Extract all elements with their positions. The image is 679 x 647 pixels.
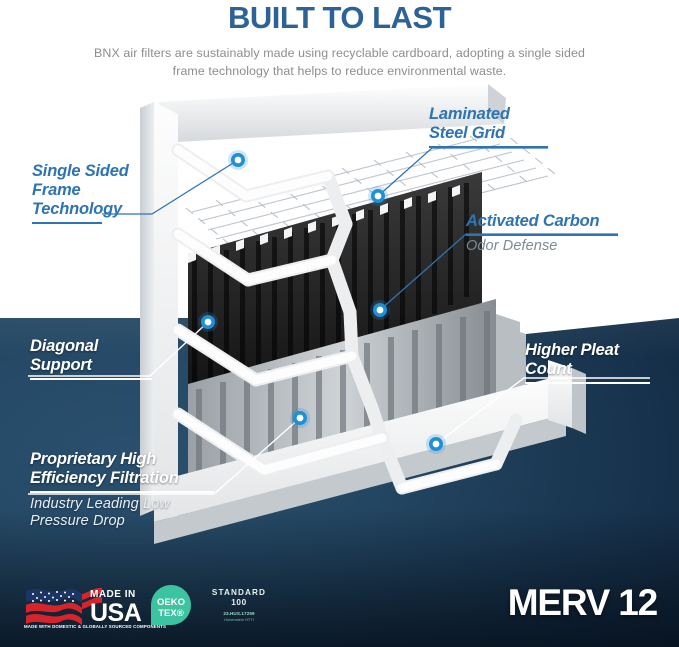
oeko-tex-institute: Hohenstein HTTI xyxy=(200,618,278,624)
oeko-tex-mark-icon: OEKO TEX® xyxy=(148,583,194,629)
callout-activated-carbon-rule xyxy=(466,234,618,236)
oeko-tex-text-block: STANDARD 100 23.HUS.17259 Hohenstein HTT… xyxy=(200,587,278,623)
callout-diagonal-support: Diagonal Support xyxy=(30,337,200,380)
callout-higher-pleat-count-title: Higher Pleat Count xyxy=(525,341,679,379)
callout-higher-pleat-count: Higher Pleat Count xyxy=(525,341,679,384)
infographic-canvas: BUILT TO LAST BNX air filters are sustai… xyxy=(0,0,679,647)
page-title: BUILT TO LAST xyxy=(0,0,679,36)
page-subtitle: BNX air filters are sustainably made usi… xyxy=(78,44,601,80)
callout-single-sided-frame-title: Single Sided Frame Technology xyxy=(32,162,192,219)
made-in-usa-line2: USA xyxy=(90,599,142,627)
callout-activated-carbon-subtitle: Odor Defense xyxy=(466,238,666,255)
oeko-tex-standard-number: 100 xyxy=(200,598,278,608)
callout-diagonal-support-title: Diagonal Support xyxy=(30,337,200,375)
callout-laminated-steel-grid: Laminated Steel Grid xyxy=(429,105,599,148)
callout-single-sided-frame-rule xyxy=(32,222,102,224)
oeko-tex-standard-label: STANDARD xyxy=(200,587,278,598)
callout-activated-carbon-title: Activated Carbon xyxy=(466,212,666,231)
callout-activated-carbon: Activated Carbon Odor Defense xyxy=(466,212,666,255)
callout-single-sided-frame: Single Sided Frame Technology xyxy=(32,162,192,224)
callout-proprietary-filtration: Proprietary High Efficiency Filtration I… xyxy=(30,450,245,531)
callout-laminated-steel-grid-title: Laminated Steel Grid xyxy=(429,105,599,143)
callout-higher-pleat-count-rule xyxy=(525,382,650,384)
oeko-tex-badge: OEKO TEX® STANDARD 100 23.HUS.17259 Hohe… xyxy=(148,583,278,635)
svg-text:OEKO: OEKO xyxy=(157,597,185,608)
callout-laminated-steel-grid-rule xyxy=(429,146,548,148)
callout-proprietary-filtration-subtitle: Industry Leading Low Pressure Drop xyxy=(30,496,245,531)
made-in-usa-tagline: MADE WITH DOMESTIC & GLOBALLY SOURCED CO… xyxy=(24,624,144,629)
callout-diagonal-support-rule xyxy=(30,378,152,380)
merv-rating: MERV 12 xyxy=(508,582,657,624)
callout-proprietary-filtration-title: Proprietary High Efficiency Filtration xyxy=(30,450,245,488)
callout-proprietary-filtration-rule xyxy=(30,491,214,493)
svg-text:TEX®: TEX® xyxy=(158,608,183,619)
